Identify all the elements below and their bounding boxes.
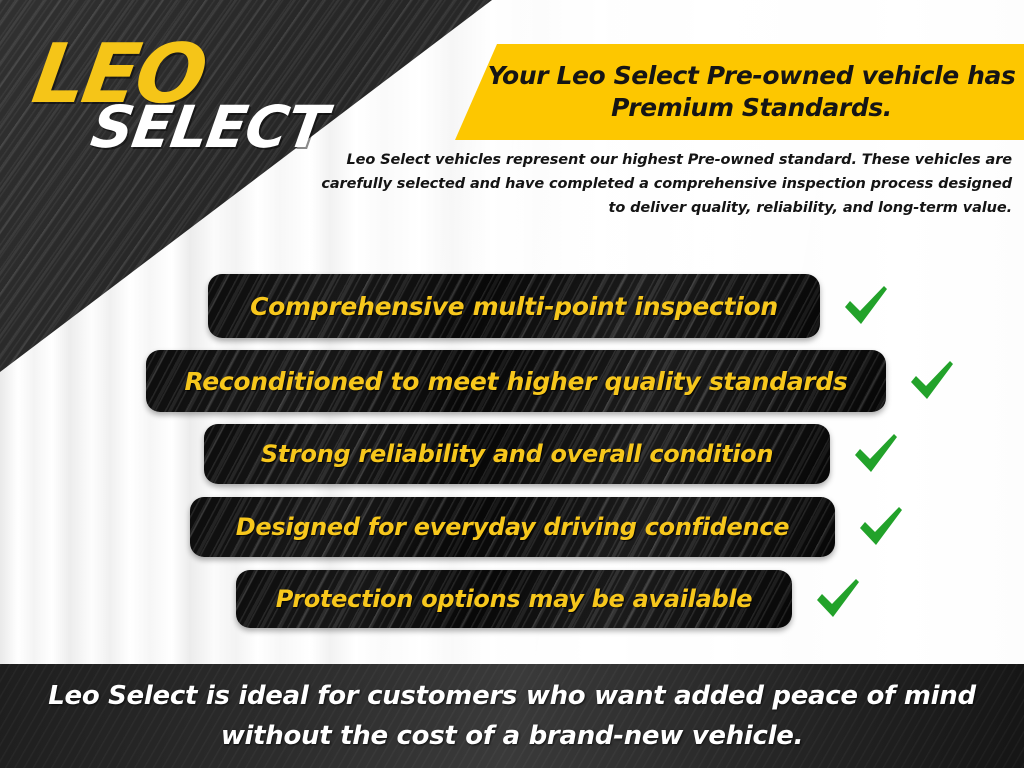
green-check-icon <box>855 501 907 553</box>
feature-row: Comprehensive multi-point inspection <box>208 274 892 338</box>
logo-secondary-text: SELECT <box>87 98 330 156</box>
feature-pill: Reconditioned to meet higher quality sta… <box>146 350 886 412</box>
feature-label: Strong reliability and overall condition <box>235 440 799 468</box>
feature-label: Reconditioned to meet higher quality sta… <box>159 367 874 396</box>
headline-banner: Your Leo Select Pre-owned vehicle has Pr… <box>455 44 1024 140</box>
feature-row: Strong reliability and overall condition <box>204 424 902 484</box>
feature-row: Designed for everyday driving confidence <box>190 497 907 557</box>
feature-row: Protection options may be available <box>236 570 864 628</box>
feature-label: Protection options may be available <box>250 585 779 613</box>
green-check-icon <box>840 280 892 332</box>
green-check-icon <box>812 573 864 625</box>
feature-pill: Protection options may be available <box>236 570 792 628</box>
feature-row: Reconditioned to meet higher quality sta… <box>146 350 958 412</box>
green-check-icon <box>906 355 958 407</box>
footer-bar: Leo Select is ideal for customers who wa… <box>0 664 1024 768</box>
feature-pill: Strong reliability and overall condition <box>204 424 830 484</box>
footer-tagline: Leo Select is ideal for customers who wa… <box>47 676 977 756</box>
green-check-icon <box>850 428 902 480</box>
feature-pill: Designed for everyday driving confidence <box>190 497 835 557</box>
promo-graphic: LEO SELECT Your Leo Select Pre-owned veh… <box>0 0 1024 768</box>
feature-pill: Comprehensive multi-point inspection <box>208 274 820 338</box>
description-paragraph: Leo Select vehicles represent our highes… <box>300 148 1012 220</box>
feature-label: Comprehensive multi-point inspection <box>224 292 804 321</box>
headline-text: Your Leo Select Pre-owned vehicle has Pr… <box>461 60 1019 124</box>
feature-label: Designed for everyday driving confidence <box>210 513 815 541</box>
